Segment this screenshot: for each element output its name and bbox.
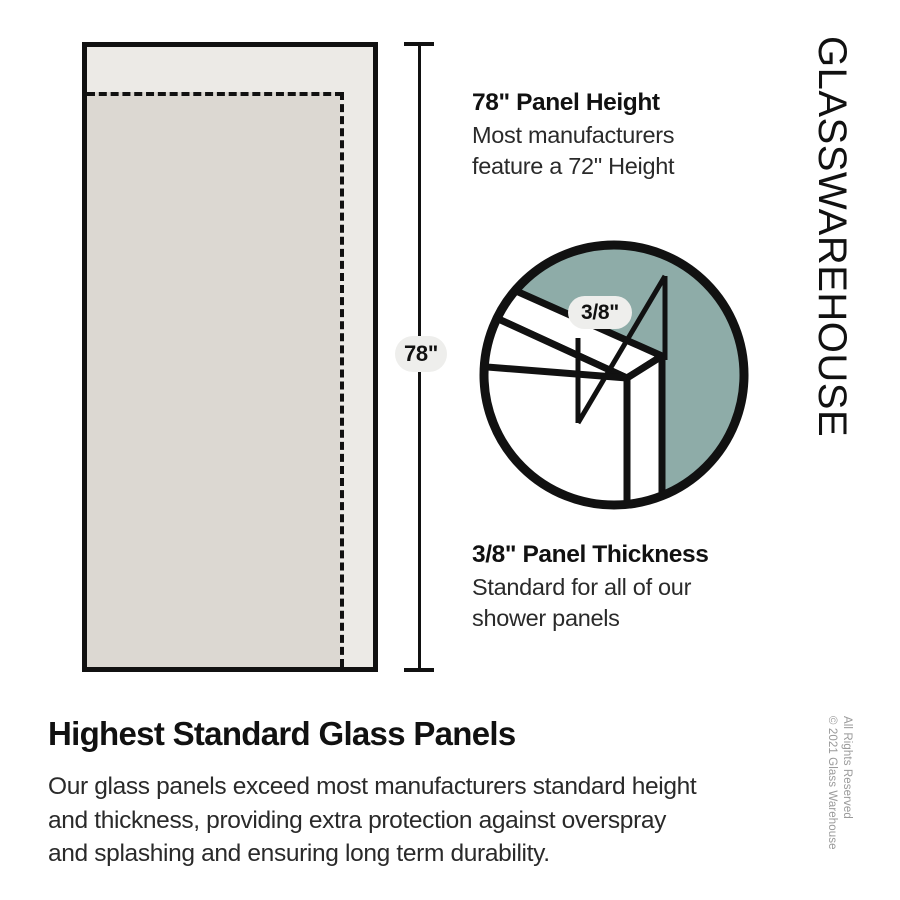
glass-thickness-detail-figure (477, 238, 751, 512)
glass-right-face (627, 356, 662, 512)
callout-panel-thickness: 3/8" Panel Thickness Standard for all of… (472, 540, 802, 634)
brand-wordmark: GLASSWAREHOUSE (806, 36, 862, 536)
brand-wordmark-text: GLASSWAREHOUSE (812, 36, 852, 92)
copyright-line-2: All Rights Reserved (838, 716, 855, 819)
copyright-notice: © 2021 Glass Warehouse All Rights Reserv… (840, 716, 880, 886)
bottom-paragraph-line3: and splashing and ensuring long term dur… (48, 837, 788, 870)
panel-inner-fill (87, 92, 340, 667)
dimension-tick-bottom (404, 668, 434, 672)
callout-panel-height-line2: feature a 72" Height (472, 151, 792, 182)
infographic-canvas: 78" 78" Panel Height Most manufacturers … (0, 0, 900, 900)
callout-panel-thickness-title: 3/8" Panel Thickness (472, 540, 802, 570)
panel-dashed-right-line (340, 92, 344, 667)
bottom-paragraph-line2: and thickness, providing extra protectio… (48, 804, 788, 837)
thickness-dimension-badge: 3/8" (568, 296, 632, 329)
callout-panel-thickness-line1: Standard for all of our (472, 572, 802, 603)
glass-panel-elevation-figure (82, 42, 378, 672)
height-dimension-badge: 78" (395, 336, 447, 372)
glass-thickness-detail-svg (477, 238, 751, 512)
callout-panel-height-line1: Most manufacturers (472, 120, 792, 151)
bottom-paragraph-line1: Our glass panels exceed most manufacture… (48, 770, 788, 803)
callout-panel-height-title: 78" Panel Height (472, 88, 792, 118)
bottom-heading: Highest Standard Glass Panels (48, 716, 788, 752)
panel-dashed-top-line (87, 92, 343, 96)
bottom-copy-block: Highest Standard Glass Panels Our glass … (48, 716, 788, 870)
callout-panel-thickness-line2: shower panels (472, 603, 802, 634)
callout-panel-height: 78" Panel Height Most manufacturers feat… (472, 88, 792, 182)
